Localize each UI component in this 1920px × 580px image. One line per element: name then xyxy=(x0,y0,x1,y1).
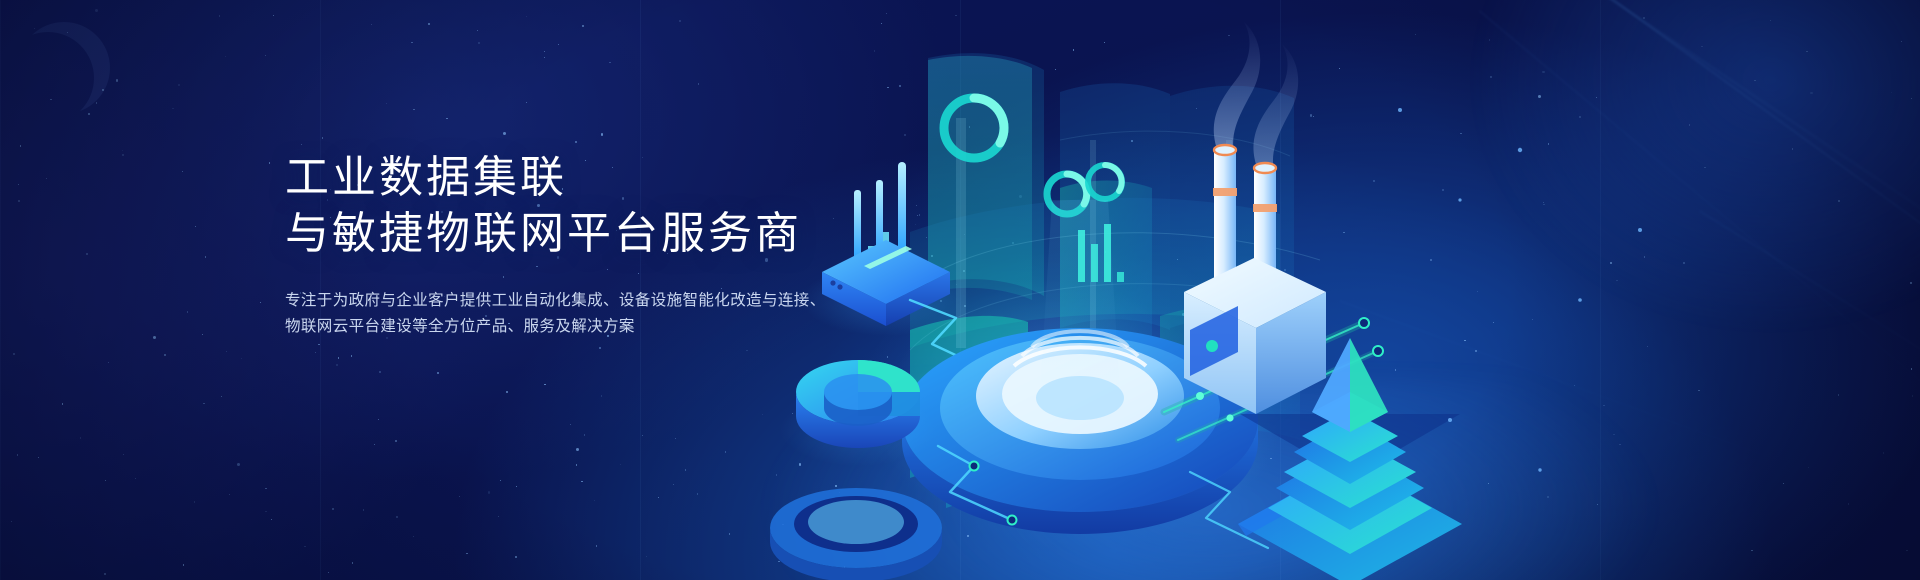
light-beam xyxy=(1040,200,1120,392)
subtitle-line-2: 物联网云平台建设等全方位产品、服务及解决方案 xyxy=(285,314,905,340)
subtitle-line-1: 专注于为政府与企业客户提供工业自动化集成、设备设施智能化改造与连接、 xyxy=(285,288,905,314)
headline-line-1: 工业数据集联 xyxy=(285,150,905,206)
headline-line-2: 与敏捷物联网平台服务商 xyxy=(285,206,905,262)
hero-copy: 工业数据集联 与敏捷物联网平台服务商 专注于为政府与企业客户提供工业自动化集成、… xyxy=(285,150,905,340)
hero-banner: 工业数据集联 与敏捷物联网平台服务商 专注于为政府与企业客户提供工业自动化集成、… xyxy=(0,0,1920,580)
illustration-isometric-iot-scene xyxy=(760,0,1920,580)
ring-base-platform xyxy=(770,488,942,580)
